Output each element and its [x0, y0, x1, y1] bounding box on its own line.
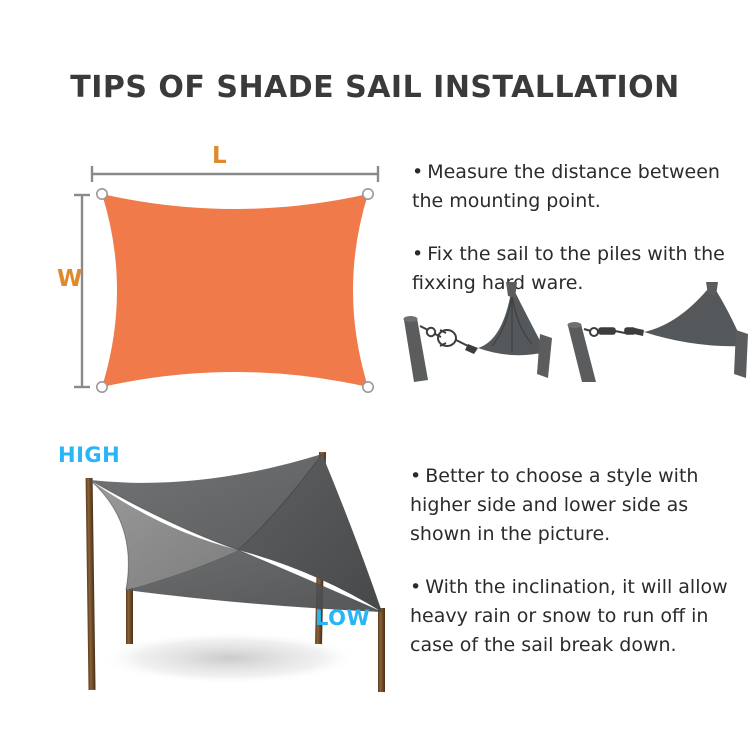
page-title: TIPS OF SHADE SAIL INSTALLATION	[0, 70, 750, 105]
grommet-ring-icon	[97, 382, 107, 392]
tip-line: the mounting point.	[412, 187, 725, 216]
rectangle-sail-diagram: L W	[60, 140, 410, 410]
tip-line: heavy rain or snow to run off in	[410, 602, 728, 631]
low-corner-label: LOW	[315, 606, 370, 630]
sail-body	[102, 194, 368, 387]
tip-line: case of the sail break down.	[410, 631, 728, 660]
infographic-page: TIPS OF SHADE SAIL INSTALLATION	[0, 0, 750, 750]
pole-icon	[126, 588, 133, 644]
tip-paragraph: •Better to choose a style with higher si…	[410, 462, 728, 549]
turnbuckle-icon	[435, 330, 468, 346]
bullet-icon: •	[412, 240, 423, 269]
hardware-illustrations	[400, 282, 750, 382]
grommet-ring-icon	[363, 382, 373, 392]
pole-icon	[86, 478, 96, 690]
inclined-sail-diagram: HIGH LOW	[30, 430, 420, 710]
pole-icon	[378, 608, 385, 692]
high-corner-label: HIGH	[58, 443, 120, 467]
tip-line: Measure the distance between	[427, 161, 720, 183]
tip-paragraph: •Measure the distance between the mounti…	[412, 158, 725, 216]
carabiner-icon	[420, 326, 435, 336]
post-icon	[734, 330, 748, 378]
width-label: W	[57, 266, 82, 292]
inclined-sail-svg	[30, 430, 420, 710]
tip-line: shown in the picture.	[410, 520, 728, 549]
grommet-ring-icon	[363, 189, 373, 199]
tip-line: With the inclination, it will allow	[425, 576, 727, 598]
carabiner-icon	[584, 328, 598, 336]
bullet-icon: •	[410, 573, 421, 602]
hardware-svg	[400, 282, 750, 382]
bottom-tips-text-block: •Better to choose a style with higher si…	[410, 462, 728, 684]
grommet-ring-icon	[97, 189, 107, 199]
pole-icon	[568, 324, 596, 382]
bullet-icon: •	[410, 462, 421, 491]
tip-line: Fix the sail to the piles with the	[427, 243, 725, 265]
hardware-illustration-2	[568, 282, 749, 382]
tip-paragraph: •With the inclination, it will allow hea…	[410, 573, 728, 660]
sail-corner	[644, 284, 744, 346]
length-dimension-line	[92, 166, 378, 182]
length-label: L	[212, 143, 227, 169]
turnbuckle-icon	[599, 328, 635, 334]
bullet-icon: •	[412, 158, 423, 187]
hardware-illustration-1	[404, 282, 553, 382]
tip-line: higher side and lower side as	[410, 491, 728, 520]
tip-line: Better to choose a style with	[425, 465, 698, 487]
rectangle-sail-svg	[60, 140, 410, 410]
connector-plate	[634, 328, 644, 336]
